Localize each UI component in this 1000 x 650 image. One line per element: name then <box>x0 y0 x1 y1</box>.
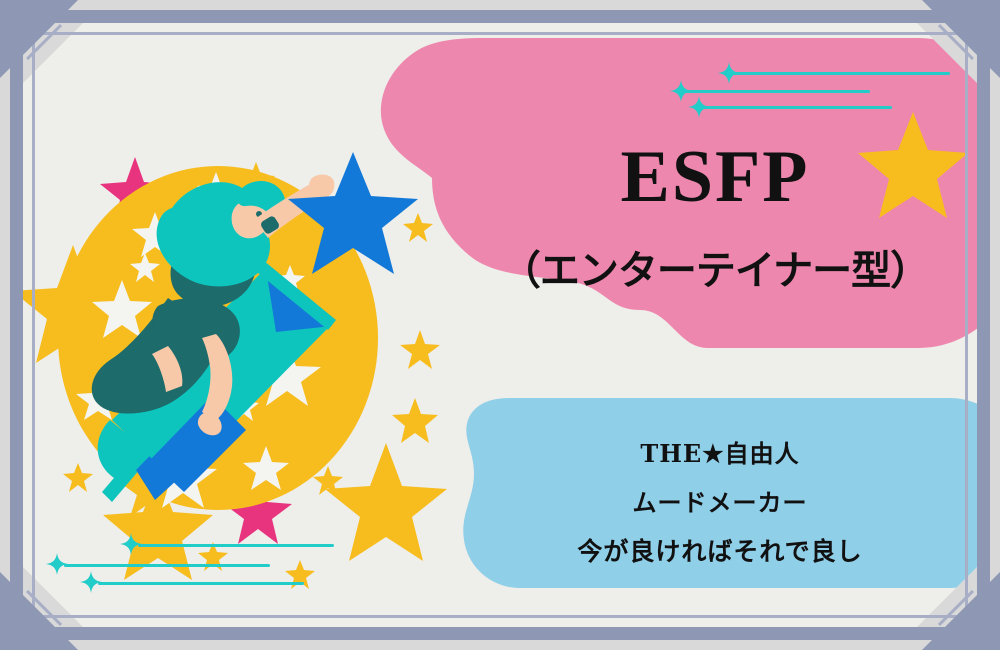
frame-band-top <box>0 10 1000 23</box>
corner-ornament-top-right <box>922 0 1000 78</box>
card-stage-inner: ESFP （エンターテイナー型） THE★自由人 ムードメーカー 今が良ければそ… <box>23 23 977 627</box>
sparkle-line-6 <box>98 582 304 585</box>
frame-band-bottom <box>0 627 1000 640</box>
frame-line-top <box>23 32 977 35</box>
sparkle-line-5 <box>64 564 270 567</box>
sparkles-top-right <box>700 50 960 170</box>
sparkle-line-3 <box>702 106 892 109</box>
sparkle-line-4 <box>138 544 334 547</box>
corner-ornament-bottom-left <box>0 572 78 650</box>
frame-band-left <box>10 0 23 650</box>
sparkles-bottom-left <box>40 520 340 627</box>
sparkle-star-3 <box>688 96 710 118</box>
card-stage: ESFP （エンターテイナー型） THE★自由人 ムードメーカー 今が良ければそ… <box>23 23 977 627</box>
sparkle-star-4 <box>120 533 142 555</box>
sparkle-line-1 <box>732 72 950 75</box>
corner-ornament-bottom-right <box>922 572 1000 650</box>
frame-line-bottom <box>23 615 977 618</box>
sparkle-line-2 <box>684 90 870 93</box>
corner-ornament-top-left <box>0 0 78 78</box>
sparkle-star-6 <box>80 571 102 593</box>
frame-band-right <box>977 0 990 650</box>
frame-line-right <box>965 23 968 627</box>
esfp-personality-card: ESFP （エンターテイナー型） THE★自由人 ムードメーカー 今が良ければそ… <box>0 0 1000 650</box>
blue-star-icon <box>288 146 418 276</box>
frame-line-left <box>32 23 35 627</box>
sparkle-star-1 <box>718 62 740 84</box>
